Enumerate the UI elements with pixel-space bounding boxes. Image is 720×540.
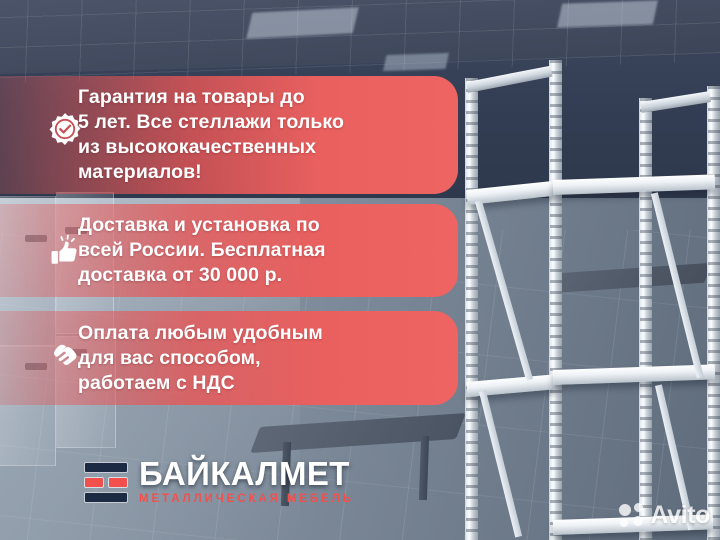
rack-diagonal-brace bbox=[479, 390, 522, 537]
handshake-icon bbox=[48, 341, 82, 375]
rack-shelf bbox=[553, 174, 715, 195]
shelf-mark-bar bbox=[84, 477, 104, 488]
rack-diagonal-brace bbox=[475, 200, 533, 381]
shelf-mark-bar bbox=[84, 492, 128, 503]
ceiling-light-panel bbox=[557, 0, 658, 27]
rack-upright-post bbox=[639, 98, 652, 540]
brand-wordmark: БАЙКАЛМЕТ МЕТАЛЛИЧЕСКАЯ МЕБЕЛЬ bbox=[139, 458, 354, 506]
brand-logo: БАЙКАЛМЕТ МЕТАЛЛИЧЕСКАЯ МЕБЕЛЬ bbox=[84, 458, 354, 506]
brand-tagline: МЕТАЛЛИЧЕСКАЯ МЕБЕЛЬ bbox=[139, 492, 354, 506]
thumbs-up-icon bbox=[48, 234, 82, 268]
avito-label: Avito bbox=[650, 501, 710, 530]
shelf-mark-row bbox=[84, 492, 128, 503]
benefit-banner-payment: Оплата любым удобным для вас способом, р… bbox=[0, 311, 458, 405]
avito-watermark: Avito bbox=[619, 501, 710, 530]
rack-upright-post bbox=[707, 86, 720, 540]
ceiling-light-panel bbox=[383, 53, 449, 71]
shelf-mark-icon bbox=[84, 462, 128, 503]
benefit-text: Гарантия на товары до 5 лет. Все стеллаж… bbox=[78, 85, 358, 185]
rack-shelf bbox=[553, 364, 715, 385]
rack-upright-post bbox=[549, 60, 562, 540]
shelf-mark-bar bbox=[108, 477, 128, 488]
shelf-mark-bar bbox=[84, 462, 128, 473]
avito-dots-icon bbox=[619, 503, 645, 529]
shelf-mark-row bbox=[84, 462, 128, 473]
metal-shelving-rack bbox=[455, 52, 720, 540]
rack-top-beam bbox=[640, 91, 711, 113]
benefit-banner-warranty: Гарантия на товары до 5 лет. Все стеллаж… bbox=[0, 76, 458, 194]
shelf-mark-row bbox=[84, 477, 128, 488]
brand-name: БАЙКАЛМЕТ bbox=[139, 458, 354, 490]
rack-top-beam bbox=[466, 66, 553, 93]
rack-upright-post bbox=[465, 78, 478, 540]
benefit-text: Оплата любым удобным для вас способом, р… bbox=[78, 321, 337, 396]
benefit-text: Доставка и установка по всей России. Бес… bbox=[78, 213, 340, 288]
benefit-banner-delivery: Доставка и установка по всей России. Бес… bbox=[0, 204, 458, 297]
rack-diagonal-brace bbox=[651, 192, 704, 378]
verified-badge-icon bbox=[48, 112, 82, 146]
